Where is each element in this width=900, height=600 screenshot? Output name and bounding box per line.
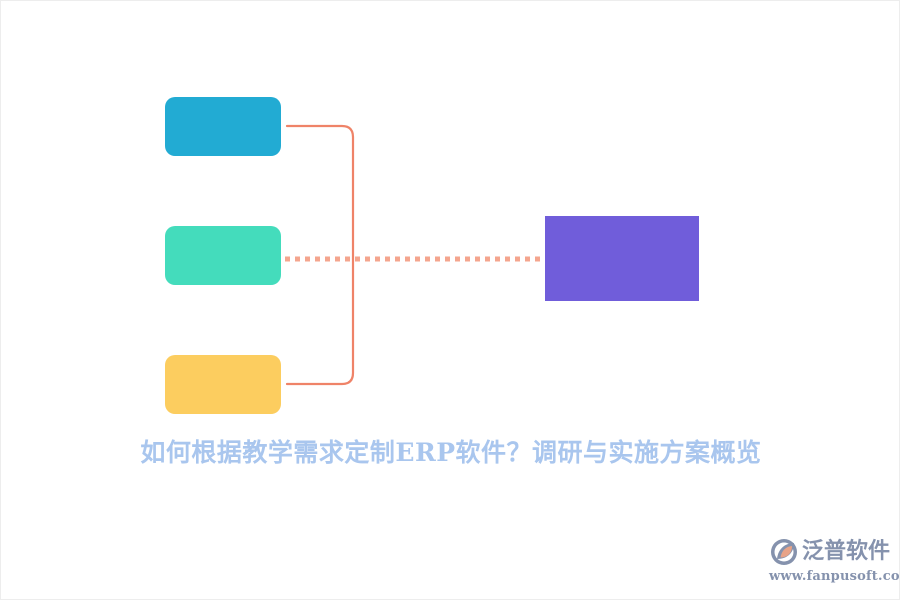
diagram-node-yellow[interactable] [165,355,281,414]
brand-logo: 泛普软件 www.fanpusoft.com [769,537,893,589]
slide-canvas: 如何根据教学需求定制ERP软件？调研与实施方案概览 泛普软件 www.fanpu… [0,0,900,600]
brand-url: www.fanpusoft.com [769,568,893,586]
brand-logo-row: 泛普软件 [769,537,893,567]
page-title: 如何根据教学需求定制ERP软件？调研与实施方案概览 [1,431,900,475]
brand-name: 泛普软件 [802,539,890,565]
fanpu-logo-icon [769,537,799,567]
diagram-node-blue[interactable] [165,97,281,156]
connector-bracket-solid [287,126,353,384]
diagram-node-purple[interactable] [545,216,699,301]
connector-layer [1,1,900,600]
diagram-node-green[interactable] [165,226,281,285]
